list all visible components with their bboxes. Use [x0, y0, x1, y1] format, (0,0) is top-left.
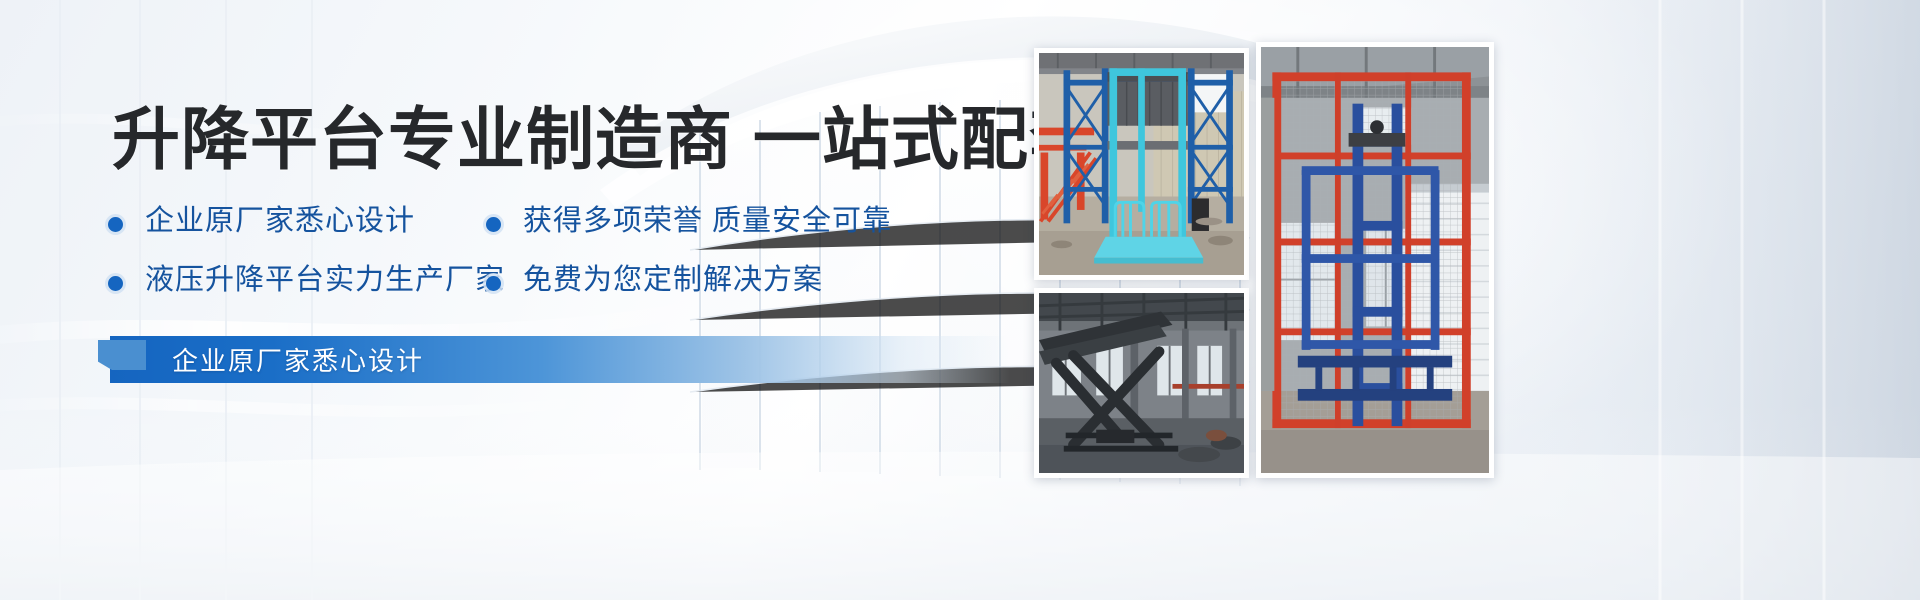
bullet-dot-icon: [486, 217, 501, 232]
feature-row: 企业原厂家悉心设计 获得多项荣誉 质量安全可靠: [108, 206, 968, 238]
feature-label: 液压升降平台实力生产厂家: [145, 265, 505, 297]
feature-item: 免费为您定制解决方案: [486, 265, 956, 297]
feature-item: 企业原厂家悉心设计: [108, 206, 486, 238]
photo-lift-blue: [1034, 48, 1249, 280]
promo-banner: 升降平台专业制造商 一站式配套服务 企业原厂家悉心设计 获得多项荣誉 质量安全可…: [0, 0, 1920, 600]
bullet-dot-icon: [486, 276, 501, 291]
feature-label: 企业原厂家悉心设计: [145, 206, 415, 238]
ribbon-banner: 企业原厂家悉心设计: [110, 336, 1010, 383]
feature-item: 液压升降平台实力生产厂家: [108, 265, 486, 297]
photo-cargo-lift: [1256, 42, 1494, 478]
bullet-dot-icon: [108, 276, 123, 291]
feature-row: 液压升降平台实力生产厂家 免费为您定制解决方案: [108, 265, 968, 297]
ribbon-label: 企业原厂家悉心设计: [172, 336, 424, 383]
bullet-dot-icon: [108, 217, 123, 232]
feature-item: 获得多项荣誉 质量安全可靠: [486, 206, 956, 238]
ribbon-flag-icon: [98, 340, 146, 370]
photo-cargo-lift-image: [1261, 47, 1489, 473]
photo-scissor-lift-image: [1039, 293, 1244, 473]
feature-label: 获得多项荣誉 质量安全可靠: [523, 206, 892, 238]
feature-list: 企业原厂家悉心设计 获得多项荣誉 质量安全可靠 液压升降平台实力生产厂家 免费为…: [108, 206, 968, 324]
feature-label: 免费为您定制解决方案: [523, 265, 823, 297]
photo-lift-blue-image: [1039, 53, 1244, 275]
photo-scissor-lift: [1034, 288, 1249, 478]
